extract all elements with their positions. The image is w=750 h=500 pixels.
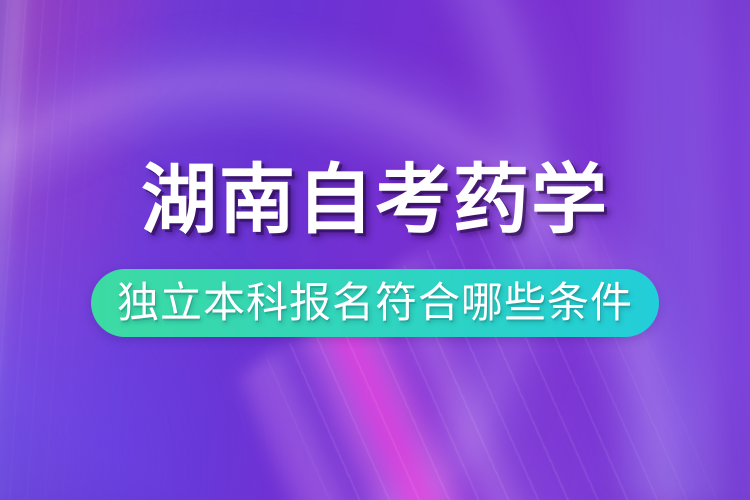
subtitle-pill: 独立本科报名符合哪些条件 xyxy=(91,269,659,337)
promo-banner: 湖南自考药学 独立本科报名符合哪些条件 xyxy=(0,0,750,500)
banner-content: 湖南自考药学 独立本科报名符合哪些条件 xyxy=(0,0,750,500)
banner-title: 湖南自考药学 xyxy=(141,163,609,239)
subtitle-text: 独立本科报名符合哪些条件 xyxy=(117,282,633,324)
